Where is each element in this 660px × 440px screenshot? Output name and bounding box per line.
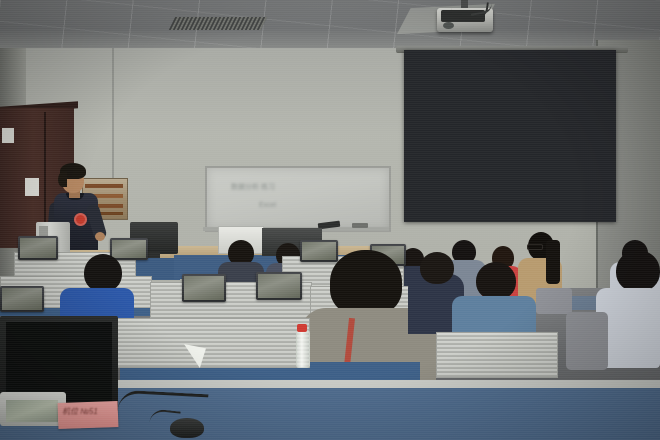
louver-texture bbox=[437, 333, 557, 377]
paper-notice-2 bbox=[2, 128, 14, 143]
partition-panel bbox=[112, 318, 310, 368]
student-head bbox=[616, 250, 660, 292]
chair-back bbox=[536, 288, 572, 314]
projector-lens-icon bbox=[443, 22, 454, 29]
ceiling-vent-icon bbox=[169, 17, 267, 30]
whiteboard-scrawl-2: Excel bbox=[259, 202, 276, 209]
instructor-hair-side bbox=[58, 172, 67, 187]
monitor-stand bbox=[148, 252, 160, 258]
glasses-icon bbox=[527, 244, 543, 250]
bottle-cap-icon bbox=[297, 324, 307, 332]
instructor-hand bbox=[95, 232, 105, 241]
student-head bbox=[476, 262, 516, 300]
long-hair bbox=[546, 240, 560, 284]
monitor-screen bbox=[184, 276, 224, 300]
student-head bbox=[330, 250, 402, 316]
lab-monitor bbox=[256, 272, 302, 300]
lab-monitor bbox=[300, 240, 338, 262]
desk-label-text: 机位 №51 bbox=[62, 406, 116, 417]
eraser-icon bbox=[352, 223, 368, 228]
lab-monitor bbox=[110, 238, 148, 260]
paper-notice bbox=[25, 178, 39, 196]
monitor-screen bbox=[258, 274, 300, 298]
projection-screen-frame: OFFICE Application Training | Data Manag… bbox=[404, 50, 616, 222]
wall-seam bbox=[112, 48, 114, 198]
lab-monitor bbox=[0, 286, 44, 312]
monitor-screen bbox=[2, 288, 42, 310]
classroom-photo: OFFICE Application Training | Data Manag… bbox=[0, 0, 660, 440]
foreground-small-screen bbox=[6, 400, 58, 422]
student-head bbox=[420, 252, 454, 284]
shirt-logo-icon bbox=[74, 213, 87, 226]
lab-monitor bbox=[182, 274, 226, 302]
partition-panel bbox=[436, 332, 558, 378]
monitor-screen bbox=[112, 240, 146, 258]
ceiling bbox=[0, 0, 660, 52]
whiteboard-scrawl: 数据分析 练习 bbox=[231, 182, 275, 192]
student-head bbox=[84, 254, 122, 292]
lab-monitor bbox=[18, 236, 58, 260]
monitor-screen bbox=[302, 242, 336, 260]
louver-texture bbox=[113, 319, 309, 367]
water-bottle bbox=[296, 330, 310, 368]
wall-panel-slat bbox=[85, 184, 123, 188]
computer-mouse bbox=[170, 418, 204, 438]
ceiling-tile-grid bbox=[0, 0, 660, 52]
monitor-screen bbox=[20, 238, 56, 258]
chair-back bbox=[566, 312, 608, 370]
